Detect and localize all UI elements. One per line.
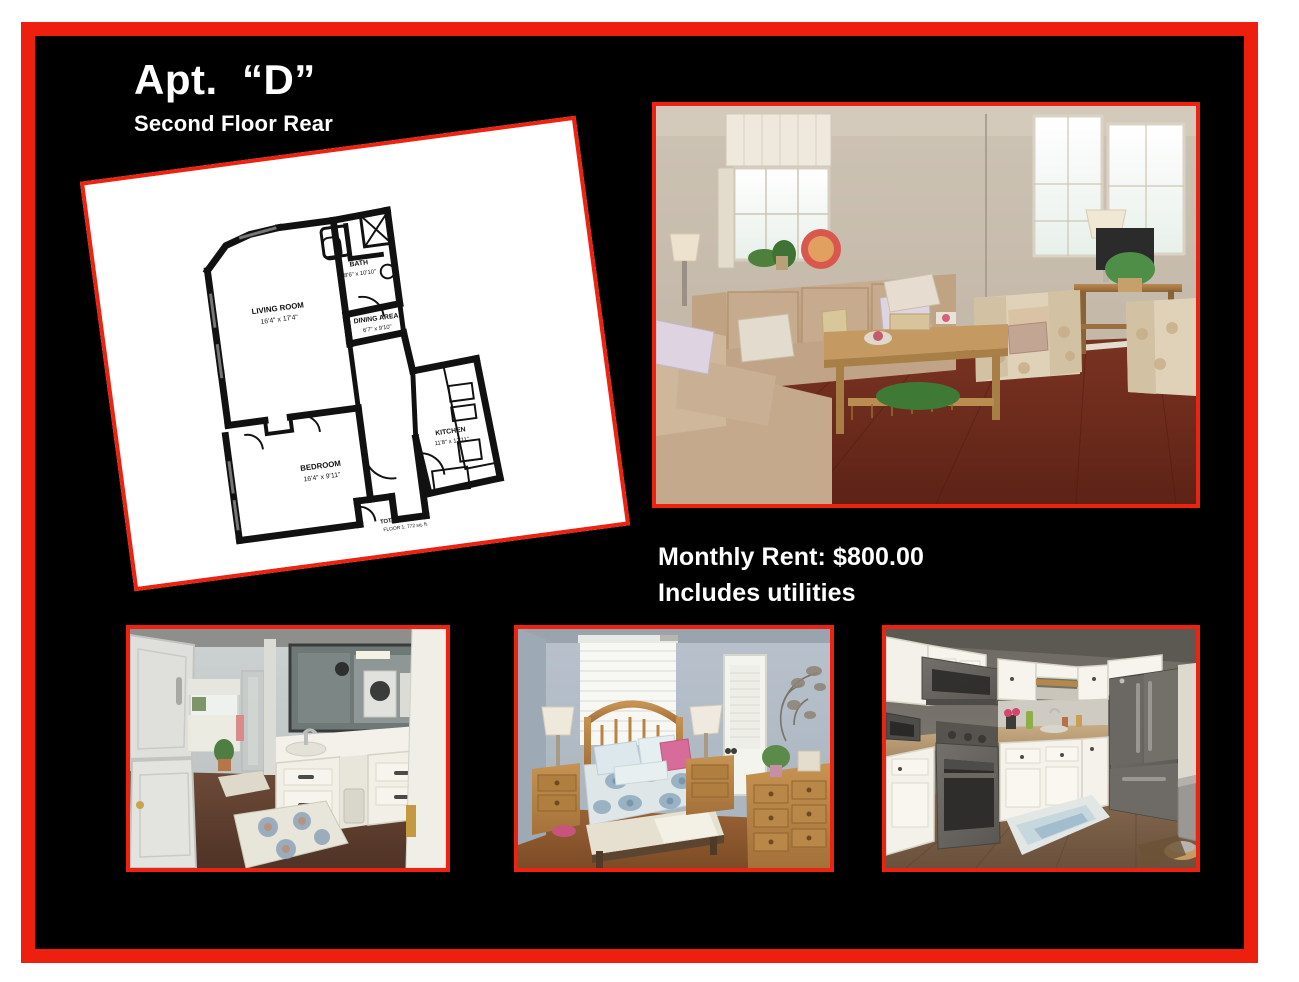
photo-bedroom-image bbox=[518, 629, 830, 868]
listing-slide: Apt. “D” Second Floor Rear Monthly Rent:… bbox=[0, 0, 1299, 982]
photo-bathroom[interactable] bbox=[126, 625, 450, 872]
photo-kitchen-image bbox=[886, 629, 1196, 868]
photo-bedroom[interactable] bbox=[514, 625, 834, 872]
pricing-block: Monthly Rent: $800.00 Includes utilities bbox=[658, 540, 924, 611]
photo-living-room-image bbox=[656, 106, 1196, 504]
includes-utilities-text: Includes utilities bbox=[658, 576, 924, 612]
monthly-rent-text: Monthly Rent: $800.00 bbox=[658, 540, 924, 576]
photo-bathroom-image bbox=[130, 629, 446, 868]
photo-living-room[interactable] bbox=[652, 102, 1200, 508]
floorplan-image: LIVING ROOM 16'4" x 17'4" BATH 8'6" x 10… bbox=[80, 116, 630, 592]
page-subtitle: Second Floor Rear bbox=[134, 111, 333, 137]
title-block: Apt. “D” Second Floor Rear bbox=[134, 58, 333, 137]
page-title: Apt. “D” bbox=[134, 58, 333, 102]
slide-canvas: Apt. “D” Second Floor Rear Monthly Rent:… bbox=[35, 36, 1244, 949]
photo-kitchen[interactable] bbox=[882, 625, 1200, 872]
